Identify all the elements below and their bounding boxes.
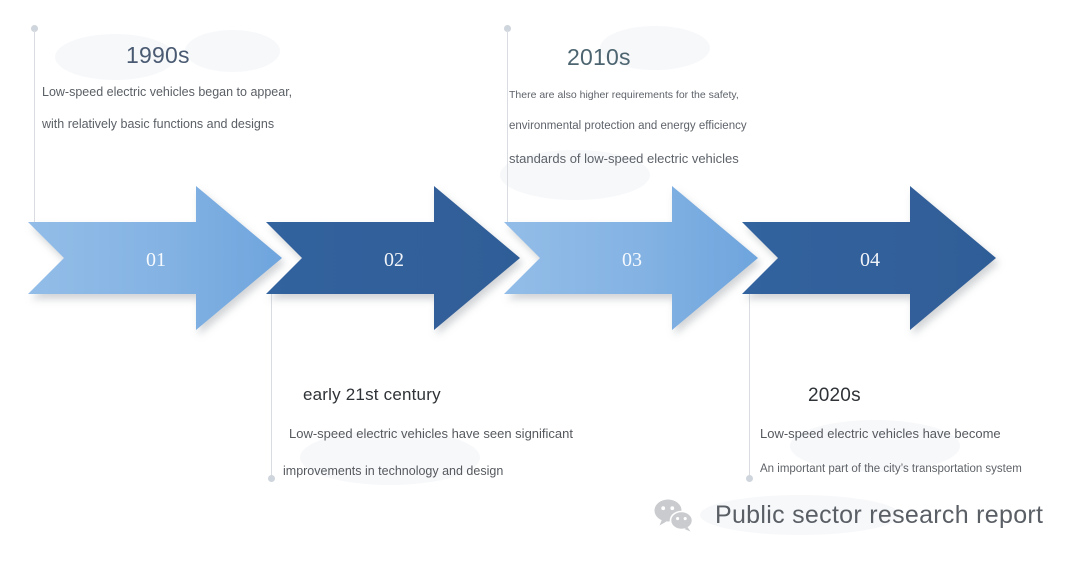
- step-line-3-2: environmental protection and energy effi…: [509, 120, 747, 133]
- connector-dot-step-2: [268, 475, 275, 482]
- connector-line-step-4: [749, 293, 750, 479]
- step-caption-1: 1990s Low-speed electric vehicles began …: [42, 42, 292, 132]
- step-line-3-1: There are also higher requirements for t…: [509, 89, 747, 101]
- connector-line-step-1: [34, 30, 35, 226]
- step-number-4: 04: [860, 249, 880, 271]
- step-number-3: 03: [622, 249, 642, 271]
- step-line-4-1: Low-speed electric vehicles have become: [760, 427, 1022, 442]
- step-heading-4: 2020s: [808, 385, 1022, 407]
- infographic-canvas: 01 02 03 04 1990s Low-speed electric veh…: [0, 0, 1080, 567]
- arrow-step-3: [504, 186, 758, 330]
- step-line-2-2: improvements in technology and design: [283, 464, 573, 478]
- step-heading-3: 2010s: [567, 44, 747, 71]
- footer-branding: Public sector research report: [653, 498, 1043, 532]
- step-caption-2: early 21st century Low-speed electric ve…: [277, 385, 573, 500]
- arrow-step-1: [28, 186, 282, 330]
- step-heading-2: early 21st century: [303, 385, 573, 405]
- step-line-1-1: Low-speed electric vehicles began to app…: [42, 85, 292, 99]
- footer-brand-text: Public sector research report: [715, 501, 1043, 530]
- wechat-icon: [653, 498, 695, 532]
- step-line-4-2: An important part of the city’s transpor…: [760, 463, 1022, 476]
- step-number-1: 01: [146, 249, 166, 271]
- arrow-step-4: [742, 186, 996, 330]
- connector-line-step-3: [507, 30, 508, 226]
- connector-line-step-2: [271, 293, 272, 479]
- step-number-2: 02: [384, 249, 404, 271]
- connector-dot-step-4: [746, 475, 753, 482]
- step-caption-3: 2010s There are also higher requirements…: [509, 44, 747, 167]
- step-caption-4: 2020s Low-speed electric vehicles have b…: [760, 385, 1022, 497]
- step-heading-1: 1990s: [126, 42, 292, 69]
- arrow-step-2: [266, 186, 520, 330]
- step-line-1-2: with relatively basic functions and desi…: [42, 117, 292, 131]
- step-line-3-3: standards of low-speed electric vehicles: [509, 152, 747, 167]
- step-line-2-1: Low-speed electric vehicles have seen si…: [289, 427, 573, 442]
